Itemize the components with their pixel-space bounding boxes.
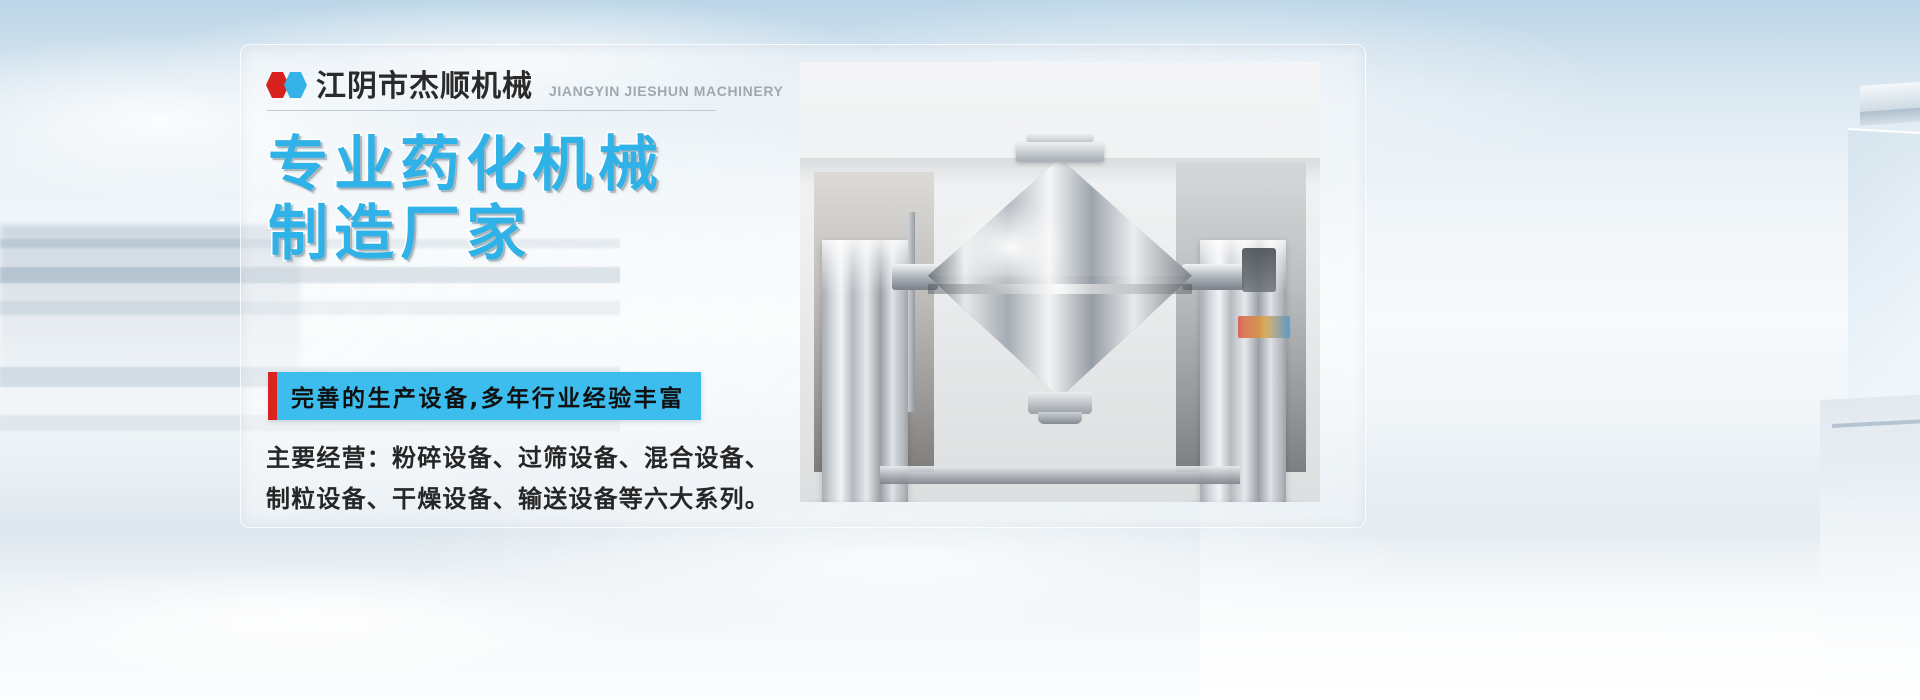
- banner-stage: 江阴市杰顺机械 JIANGYIN JIESHUN MACHINERY 专业药化机…: [0, 0, 1920, 700]
- workshop-wall-sign: [1238, 316, 1290, 338]
- machine-crossbar: [880, 466, 1240, 484]
- description: 主要经营：粉碎设备、过筛设备、混合设备、 制粒设备、干燥设备、输送设备等六大系列…: [266, 438, 886, 521]
- highlight-bar-text: 完善的生产设备,多年行业经验丰富: [277, 379, 701, 413]
- logo-mark: [266, 72, 307, 98]
- company-name-en: JIANGYIN JIESHUN MACHINERY: [549, 83, 783, 99]
- machine-pipe: [908, 212, 915, 412]
- description-line-1: 主要经营：粉碎设备、过筛设备、混合设备、: [266, 438, 886, 479]
- highlight-bar: 完善的生产设备,多年行业经验丰富: [268, 372, 701, 420]
- workshop-control-panel: [1242, 248, 1276, 292]
- building-ceiling-slab: [1860, 35, 1920, 112]
- brand-divider: [266, 110, 716, 111]
- brand-logo[interactable]: 江阴市杰顺机械 JIANGYIN JIESHUN MACHINERY: [266, 72, 783, 102]
- machine-manhole: [1016, 142, 1104, 162]
- description-line-2: 制粒设备、干燥设备、输送设备等六大系列。: [266, 479, 886, 520]
- machine-discharge-valve: [1028, 392, 1092, 414]
- company-name-cn: 江阴市杰顺机械: [316, 72, 533, 102]
- machine-highlight-glare: [950, 202, 1070, 292]
- hexagon-blue-icon: [284, 72, 307, 98]
- machine-discharge-outlet: [1038, 412, 1082, 424]
- product-image: [800, 62, 1320, 502]
